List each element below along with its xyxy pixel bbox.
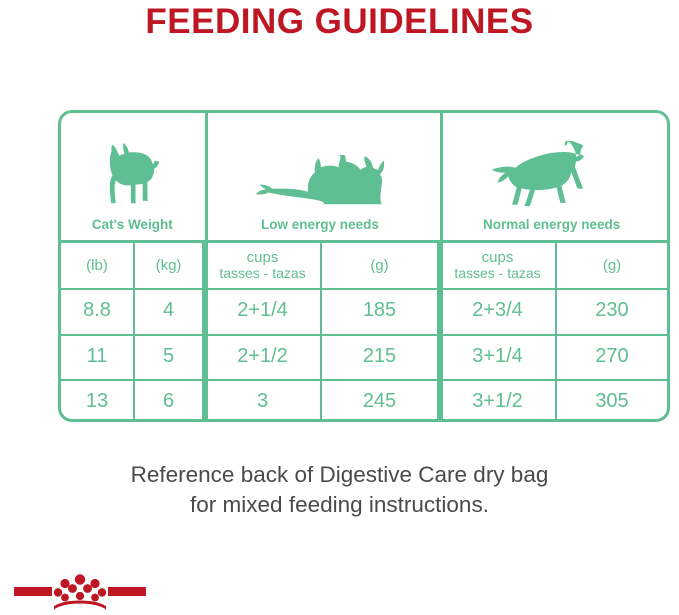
units-cell-low-grams: (g) <box>322 243 440 288</box>
footer-note: Reference back of Digestive Care dry bag… <box>0 460 679 520</box>
table-row: 13 6 3 245 3+1/2 305 <box>61 379 667 419</box>
cat-standing-icon <box>95 141 169 211</box>
cell-normal-cups: 2+3/4 <box>440 288 557 334</box>
table-grid: (lb) (kg) cups tasses - tazas (g) cups <box>61 243 667 419</box>
cell-normal-grams: 305 <box>557 379 667 419</box>
cell-low-grams: 245 <box>322 379 440 419</box>
header-label-normal-energy: Normal energy needs <box>483 217 620 232</box>
units-normal-cups-top: cups <box>454 250 540 266</box>
footer-note-line-1: Reference back of Digestive Care dry bag <box>0 460 679 490</box>
cell-weight-kg: 6 <box>135 379 205 419</box>
cell-normal-grams: 230 <box>557 288 667 334</box>
units-cell-kg: (kg) <box>135 243 205 288</box>
units-low-cups-top: cups <box>219 250 305 266</box>
units-normal-grams-top: (g) <box>603 258 621 274</box>
cat-walking-icon <box>487 141 617 211</box>
units-cell-normal-cups: cups tasses - tazas <box>440 243 557 288</box>
cell-low-grams: 215 <box>322 334 440 380</box>
cell-low-grams: 185 <box>322 288 440 334</box>
cell-low-cups: 2+1/2 <box>205 334 322 380</box>
header-cell-cats-weight: Cat's Weight <box>61 113 204 240</box>
table-units-row: (lb) (kg) cups tasses - tazas (g) cups <box>61 243 667 288</box>
royal-canin-crown-logo <box>14 568 146 610</box>
header-label-cats-weight: Cat's Weight <box>92 217 173 232</box>
cell-normal-cups: 3+1/4 <box>440 334 557 380</box>
cell-normal-cups: 3+1/2 <box>440 379 557 419</box>
table-row: 11 5 2+1/2 215 3+1/4 270 <box>61 334 667 380</box>
cell-weight-lb: 8.8 <box>61 288 135 334</box>
units-cell-normal-grams: (g) <box>557 243 667 288</box>
table-inner: Cat's Weight Low energy needs Normal ene… <box>61 113 667 419</box>
table-row: 8.8 4 2+1/4 185 2+3/4 230 <box>61 288 667 334</box>
units-normal-cups-bottom: tasses - tazas <box>454 266 540 281</box>
cell-weight-lb: 13 <box>61 379 135 419</box>
cell-normal-grams: 270 <box>557 334 667 380</box>
units-cell-low-cups: cups tasses - tazas <box>205 243 322 288</box>
page-title: FEEDING GUIDELINES <box>0 2 679 42</box>
units-low-grams-top: (g) <box>370 258 388 274</box>
cell-low-cups: 2+1/4 <box>205 288 322 334</box>
feeding-guidelines-table: Cat's Weight Low energy needs Normal ene… <box>58 110 670 422</box>
cat-lying-icon <box>256 141 384 211</box>
cell-low-cups: 3 <box>205 379 322 419</box>
units-cell-lb: (lb) <box>61 243 135 288</box>
table-icon-header-row: Cat's Weight Low energy needs Normal ene… <box>61 113 667 240</box>
units-kg-top: (kg) <box>156 258 182 274</box>
cell-weight-lb: 11 <box>61 334 135 380</box>
footer-note-line-2: for mixed feeding instructions. <box>0 490 679 520</box>
units-lb-top: (lb) <box>86 258 108 274</box>
units-low-cups-bottom: tasses - tazas <box>219 266 305 281</box>
cell-weight-kg: 5 <box>135 334 205 380</box>
header-cell-low-energy: Low energy needs <box>204 113 437 240</box>
header-label-low-energy: Low energy needs <box>261 217 379 232</box>
cell-weight-kg: 4 <box>135 288 205 334</box>
header-cell-normal-energy: Normal energy needs <box>436 113 667 240</box>
